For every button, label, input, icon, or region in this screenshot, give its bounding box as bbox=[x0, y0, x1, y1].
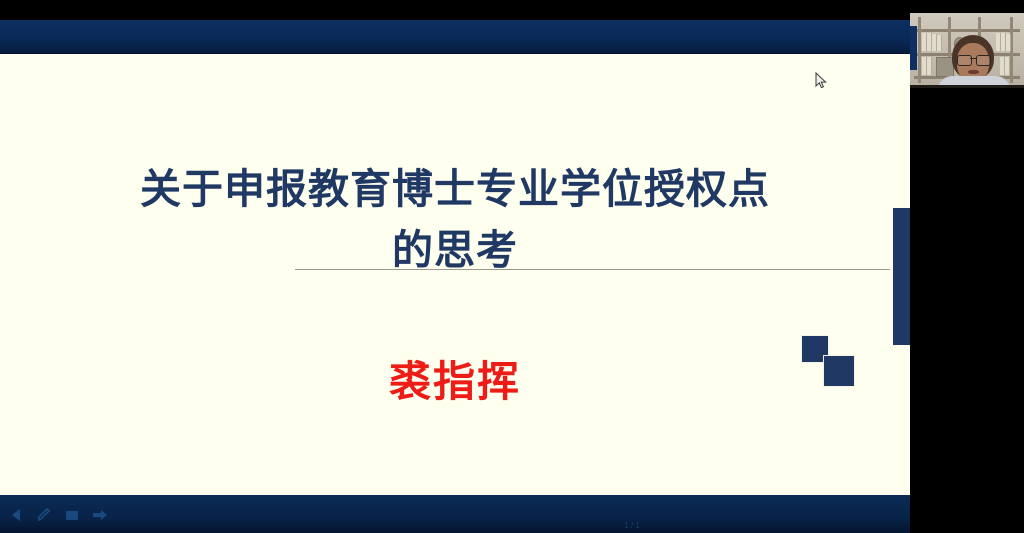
mouse-cursor bbox=[815, 72, 827, 90]
slide-title-line-2: 的思考 bbox=[40, 220, 870, 281]
webcam-panel[interactable] bbox=[910, 0, 1024, 533]
presenter-name: 裘指挥 bbox=[40, 348, 870, 409]
slideshow-control-bar[interactable] bbox=[0, 495, 910, 533]
slide-counter: 1 / 1 bbox=[612, 521, 652, 531]
screen-root: 关于申报教育博士专业学位授权点 的思考 裘指挥 1 / 1 bbox=[0, 0, 1024, 533]
bookshelf-book bbox=[937, 35, 942, 51]
presentation-top-bar bbox=[0, 20, 910, 54]
slide-menu-icon[interactable] bbox=[64, 508, 80, 522]
next-slide-icon[interactable] bbox=[92, 508, 108, 522]
glasses-icon bbox=[957, 55, 990, 64]
slide-canvas[interactable]: 关于申报教育博士专业学位授权点 的思考 裘指挥 bbox=[0, 54, 910, 495]
bookshelf-shelf bbox=[914, 29, 1020, 32]
pen-annotation-icon[interactable] bbox=[36, 508, 52, 522]
title-divider-rule bbox=[295, 269, 890, 270]
webcam-foreground-desk bbox=[910, 85, 1024, 88]
glasses-left-lens bbox=[957, 55, 972, 66]
glasses-right-lens bbox=[976, 55, 991, 66]
slide-title: 关于申报教育博士专业学位授权点 的思考 bbox=[40, 159, 870, 280]
participant-mouth bbox=[968, 70, 979, 74]
decorative-vertical-bar bbox=[893, 208, 910, 345]
slide-title-line-1: 关于申报教育博士专业学位授权点 bbox=[140, 165, 770, 213]
bookshelf-book bbox=[927, 57, 932, 75]
top-black-strip bbox=[0, 0, 910, 20]
webcam-video-feed[interactable] bbox=[910, 13, 1024, 88]
bookshelf-book bbox=[1006, 34, 1011, 51]
slideshow-toolbar[interactable] bbox=[8, 508, 108, 522]
webcam-left-blue-edge bbox=[910, 26, 917, 70]
previous-slide-icon[interactable] bbox=[8, 508, 24, 522]
bookshelf-post bbox=[918, 17, 921, 83]
bookshelf-book bbox=[1005, 57, 1010, 75]
